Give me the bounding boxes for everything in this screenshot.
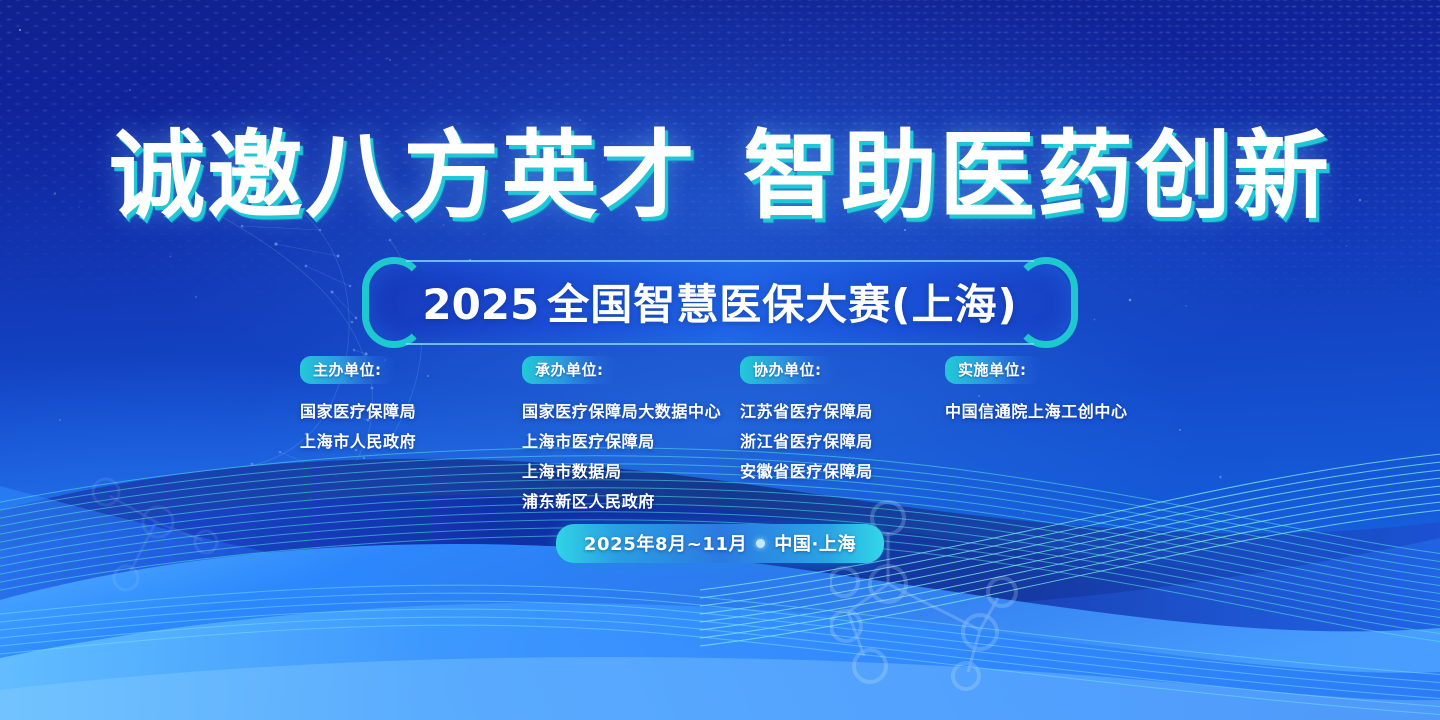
date-location-pill: 2025年8月~11月 中国·上海	[556, 524, 884, 563]
footer-block: 2025年8月~11月 中国·上海	[0, 524, 1440, 563]
organizers-section: 主办单位: 国家医疗保障局 上海市人民政府 承办单位: 国家医疗保障局大数据中心…	[0, 356, 1440, 517]
organizer-item: 上海市医疗保障局	[522, 427, 740, 457]
pill-hairline-top	[406, 260, 1033, 262]
organizer-label: 主办单位:	[300, 356, 395, 384]
main-title-line-1: 诚邀八方英才	[109, 120, 697, 232]
organizer-list: 国家医疗保障局大数据中心 上海市医疗保障局 上海市数据局 浦东新区人民政府	[522, 397, 740, 517]
subtitle: 2025全国智慧医保大赛(上海)	[422, 280, 1017, 329]
subtitle-pill: 2025全国智慧医保大赛(上海)	[368, 262, 1071, 343]
pill-arc-right-icon	[1014, 257, 1078, 348]
organizer-item: 上海市人民政府	[300, 427, 522, 457]
main-title-line-2: 智助医药创新	[743, 120, 1331, 232]
organizer-item: 浦东新区人民政府	[522, 487, 740, 517]
organizer-label: 实施单位:	[945, 356, 1040, 384]
organizer-list: 国家医疗保障局 上海市人民政府	[300, 397, 522, 457]
main-title-block: 诚邀八方英才智助医药创新	[0, 128, 1440, 224]
organizer-item: 中国信通院上海工创中心	[945, 397, 1205, 427]
organizer-column-host: 主办单位: 国家医疗保障局 上海市人民政府	[300, 356, 522, 517]
organizer-label: 协办单位:	[740, 356, 835, 384]
main-title: 诚邀八方英才智助医药创新	[109, 128, 1331, 224]
subtitle-year: 2025	[422, 280, 547, 329]
organizer-item: 上海市数据局	[522, 457, 740, 487]
bullet-dot-icon	[756, 539, 765, 548]
organizer-item: 浙江省医疗保障局	[740, 427, 945, 457]
organizer-item: 国家医疗保障局大数据中心	[522, 397, 740, 427]
organizer-list: 中国信通院上海工创中心	[945, 397, 1205, 427]
event-location: 中国·上海	[774, 530, 856, 556]
event-banner: 诚邀八方英才智助医药创新 2025全国智慧医保大赛(上海) 主办单位: 国家医疗…	[0, 0, 1440, 720]
organizer-column-coorganizer: 协办单位: 江苏省医疗保障局 浙江省医疗保障局 安徽省医疗保障局	[740, 356, 945, 517]
subtitle-text: 全国智慧医保大赛(上海)	[547, 280, 1017, 329]
pill-arc-left-icon	[362, 257, 426, 348]
subtitle-block: 2025全国智慧医保大赛(上海)	[0, 262, 1440, 343]
organizer-item: 安徽省医疗保障局	[740, 457, 945, 487]
organizer-column-implementer: 实施单位: 中国信通院上海工创中心	[945, 356, 1205, 517]
pill-hairline-bottom	[406, 343, 1033, 345]
organizer-column-organizer: 承办单位: 国家医疗保障局大数据中心 上海市医疗保障局 上海市数据局 浦东新区人…	[522, 356, 740, 517]
organizer-item: 国家医疗保障局	[300, 397, 522, 427]
event-date: 2025年8月~11月	[584, 530, 747, 556]
organizer-list: 江苏省医疗保障局 浙江省医疗保障局 安徽省医疗保障局	[740, 397, 945, 487]
organizer-item: 江苏省医疗保障局	[740, 397, 945, 427]
organizer-label: 承办单位:	[522, 356, 617, 384]
